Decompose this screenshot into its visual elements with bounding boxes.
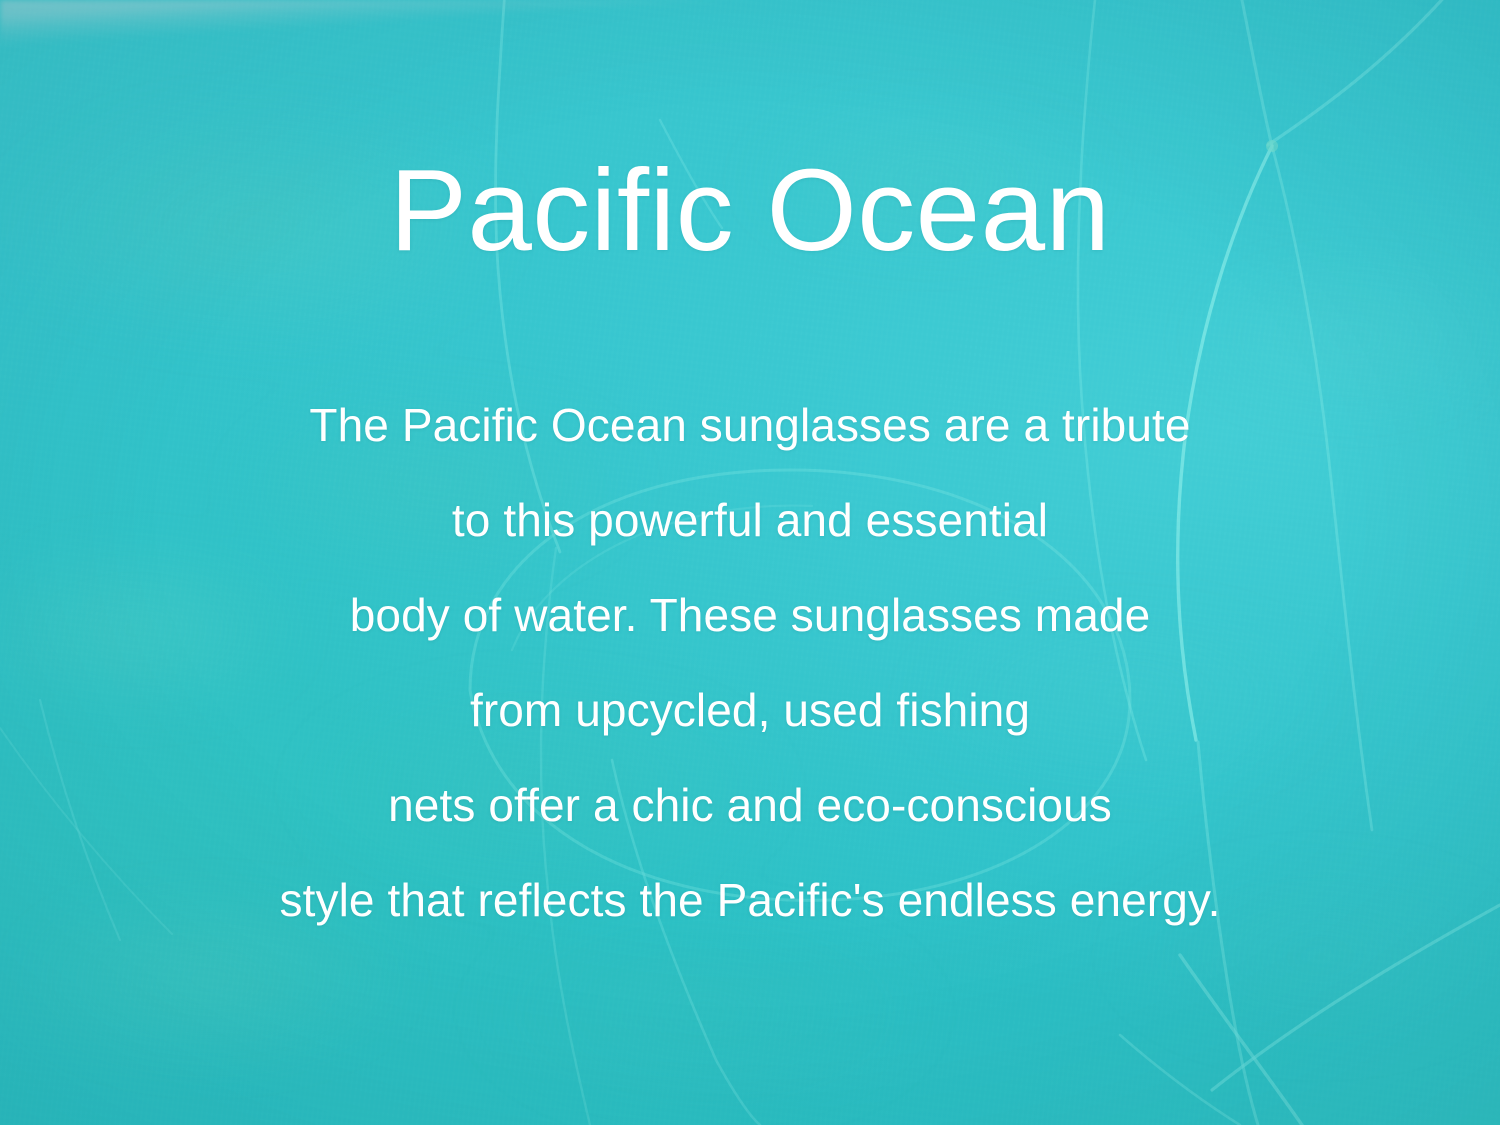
body-line: body of water. These sunglasses made — [350, 568, 1151, 663]
body-line: to this powerful and essential — [452, 473, 1048, 568]
slide-content: Pacific Ocean The Pacific Ocean sunglass… — [0, 0, 1500, 1125]
body-line: from upcycled, used fishing — [470, 663, 1030, 758]
body-line: The Pacific Ocean sunglasses are a tribu… — [309, 378, 1190, 473]
body-paragraph: The Pacific Ocean sunglasses are a tribu… — [0, 378, 1500, 948]
body-line: nets offer a chic and eco-conscious — [388, 758, 1112, 853]
slide-canvas: Pacific Ocean The Pacific Ocean sunglass… — [0, 0, 1500, 1125]
body-line: style that reflects the Pacific's endles… — [280, 853, 1221, 948]
page-title: Pacific Ocean — [0, 152, 1500, 268]
